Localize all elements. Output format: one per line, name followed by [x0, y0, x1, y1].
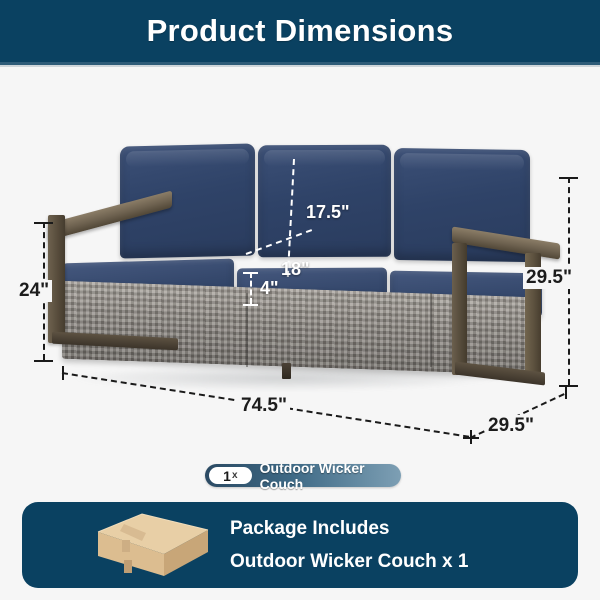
left-height-cap-top: [34, 222, 53, 224]
quantity-count: 1: [223, 469, 231, 483]
seat-thickness-line: [250, 272, 252, 304]
seat-thickness-cap-top: [243, 272, 258, 274]
left-arm-post: [48, 215, 65, 343]
quantity-label: Outdoor Wicker Couch: [260, 460, 401, 492]
depth-cap-end: [565, 385, 567, 399]
cardboard-box-icon: [94, 510, 212, 580]
right-arm-post-front: [452, 243, 467, 375]
backrest-height-label: 17.5": [306, 202, 350, 223]
left-height-label: 24": [16, 280, 52, 302]
right-height-cap-bottom: [559, 385, 578, 387]
header-banner: Product Dimensions: [0, 0, 600, 62]
wicker-seam-right: [430, 293, 432, 367]
center-leg: [282, 363, 291, 379]
right-height-label: 29.5": [523, 267, 575, 289]
seat-depth-label: 18": [281, 259, 310, 280]
seat-thickness-label: 4": [260, 278, 279, 299]
sofa-illustration: 17.5" 18" 4" 24" 29.5" 74.5" 29.5": [0, 67, 600, 467]
seat-thickness-cap-bottom: [243, 304, 258, 306]
package-contents: Outdoor Wicker Couch x 1: [230, 551, 468, 573]
package-includes-panel: Package Includes Outdoor Wicker Couch x …: [22, 502, 578, 588]
page-title: Product Dimensions: [147, 13, 454, 49]
right-height-cap-top: [559, 177, 578, 179]
width-label: 74.5": [238, 395, 290, 417]
depth-label: 29.5": [485, 415, 537, 437]
product-dimensions-infographic: Product Dimensions: [0, 0, 600, 600]
left-height-cap-bottom: [34, 360, 53, 362]
quantity-pill: 1 x: [209, 467, 252, 484]
package-text-block: Package Includes Outdoor Wicker Couch x …: [230, 518, 468, 573]
quantity-badge: 1 x Outdoor Wicker Couch: [205, 464, 401, 487]
width-cap-left: [62, 366, 64, 380]
package-heading: Package Includes: [230, 518, 468, 540]
quantity-multiplier: x: [232, 471, 238, 481]
